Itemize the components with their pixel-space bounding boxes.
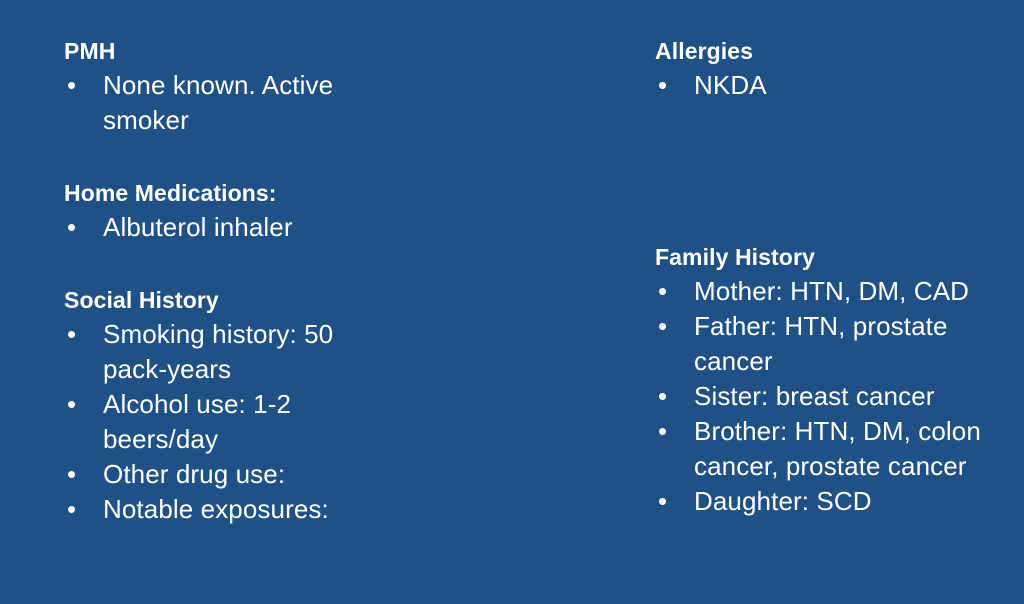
bullet-item: •Father: HTN, prostate cancer [655, 309, 1015, 379]
bullet-point-icon: • [67, 457, 79, 492]
bullet-text: Smoking history: 50 pack-years [103, 317, 394, 387]
bullet-text: Mother: HTN, DM, CAD [694, 274, 1015, 309]
bullet-item: •None known. Active smoker [64, 68, 394, 138]
bullet-list: •Smoking history: 50 pack-years•Alcohol … [64, 317, 394, 527]
bullet-text: None known. Active smoker [103, 68, 394, 138]
bullet-point-icon: • [658, 484, 670, 519]
section-heading: Allergies [655, 34, 1010, 68]
bullet-text: Sister: breast cancer [694, 379, 1015, 414]
section-heading: Social History [64, 283, 394, 317]
bullet-item: •Smoking history: 50 pack-years [64, 317, 394, 387]
bullet-text: Notable exposures: [103, 492, 394, 527]
bullet-point-icon: • [658, 379, 670, 414]
bullet-item: •Notable exposures: [64, 492, 394, 527]
section-allergies: Allergies•NKDA [655, 34, 1010, 103]
bullet-item: •Daughter: SCD [655, 484, 1015, 519]
bullet-list: •Albuterol inhaler [64, 210, 394, 245]
bullet-point-icon: • [658, 68, 670, 103]
bullet-list: •None known. Active smoker [64, 68, 394, 138]
bullet-text: Daughter: SCD [694, 484, 1015, 519]
section-heading: Family History [655, 240, 1015, 274]
bullet-item: •Sister: breast cancer [655, 379, 1015, 414]
slide-canvas: PMH•None known. Active smokerHome Medica… [0, 0, 1024, 604]
section-family-history: Family History•Mother: HTN, DM, CAD•Fath… [655, 240, 1015, 519]
bullet-point-icon: • [67, 492, 79, 527]
bullet-item: •Mother: HTN, DM, CAD [655, 274, 1015, 309]
bullet-text: NKDA [694, 68, 1010, 103]
bullet-point-icon: • [658, 274, 670, 309]
bullet-point-icon: • [658, 309, 670, 344]
bullet-point-icon: • [67, 68, 79, 103]
section-pmh: PMH•None known. Active smoker [64, 34, 394, 138]
bullet-text: Albuterol inhaler [103, 210, 394, 245]
bullet-item: •NKDA [655, 68, 1010, 103]
section-social-history: Social History•Smoking history: 50 pack-… [64, 283, 394, 527]
bullet-text: Other drug use: [103, 457, 394, 492]
bullet-list: •Mother: HTN, DM, CAD•Father: HTN, prost… [655, 274, 1015, 519]
right-column-top: Allergies•NKDA [655, 34, 1010, 103]
bullet-point-icon: • [67, 210, 79, 245]
section-heading: Home Medications: [64, 176, 394, 210]
bullet-point-icon: • [658, 414, 670, 449]
left-column: PMH•None known. Active smokerHome Medica… [64, 34, 394, 527]
section-heading: PMH [64, 34, 394, 68]
bullet-point-icon: • [67, 317, 79, 352]
bullet-text: Brother: HTN, DM, colon cancer, prostate… [694, 414, 1015, 484]
right-column-bottom: Family History•Mother: HTN, DM, CAD•Fath… [655, 240, 1015, 519]
bullet-list: •NKDA [655, 68, 1010, 103]
bullet-item: •Alcohol use: 1-2 beers/day [64, 387, 394, 457]
section-home-medications: Home Medications:•Albuterol inhaler [64, 176, 394, 245]
bullet-text: Alcohol use: 1-2 beers/day [103, 387, 394, 457]
bullet-point-icon: • [67, 387, 79, 422]
bullet-item: •Albuterol inhaler [64, 210, 394, 245]
bullet-text: Father: HTN, prostate cancer [694, 309, 1015, 379]
bullet-item: •Other drug use: [64, 457, 394, 492]
bullet-item: •Brother: HTN, DM, colon cancer, prostat… [655, 414, 1015, 484]
